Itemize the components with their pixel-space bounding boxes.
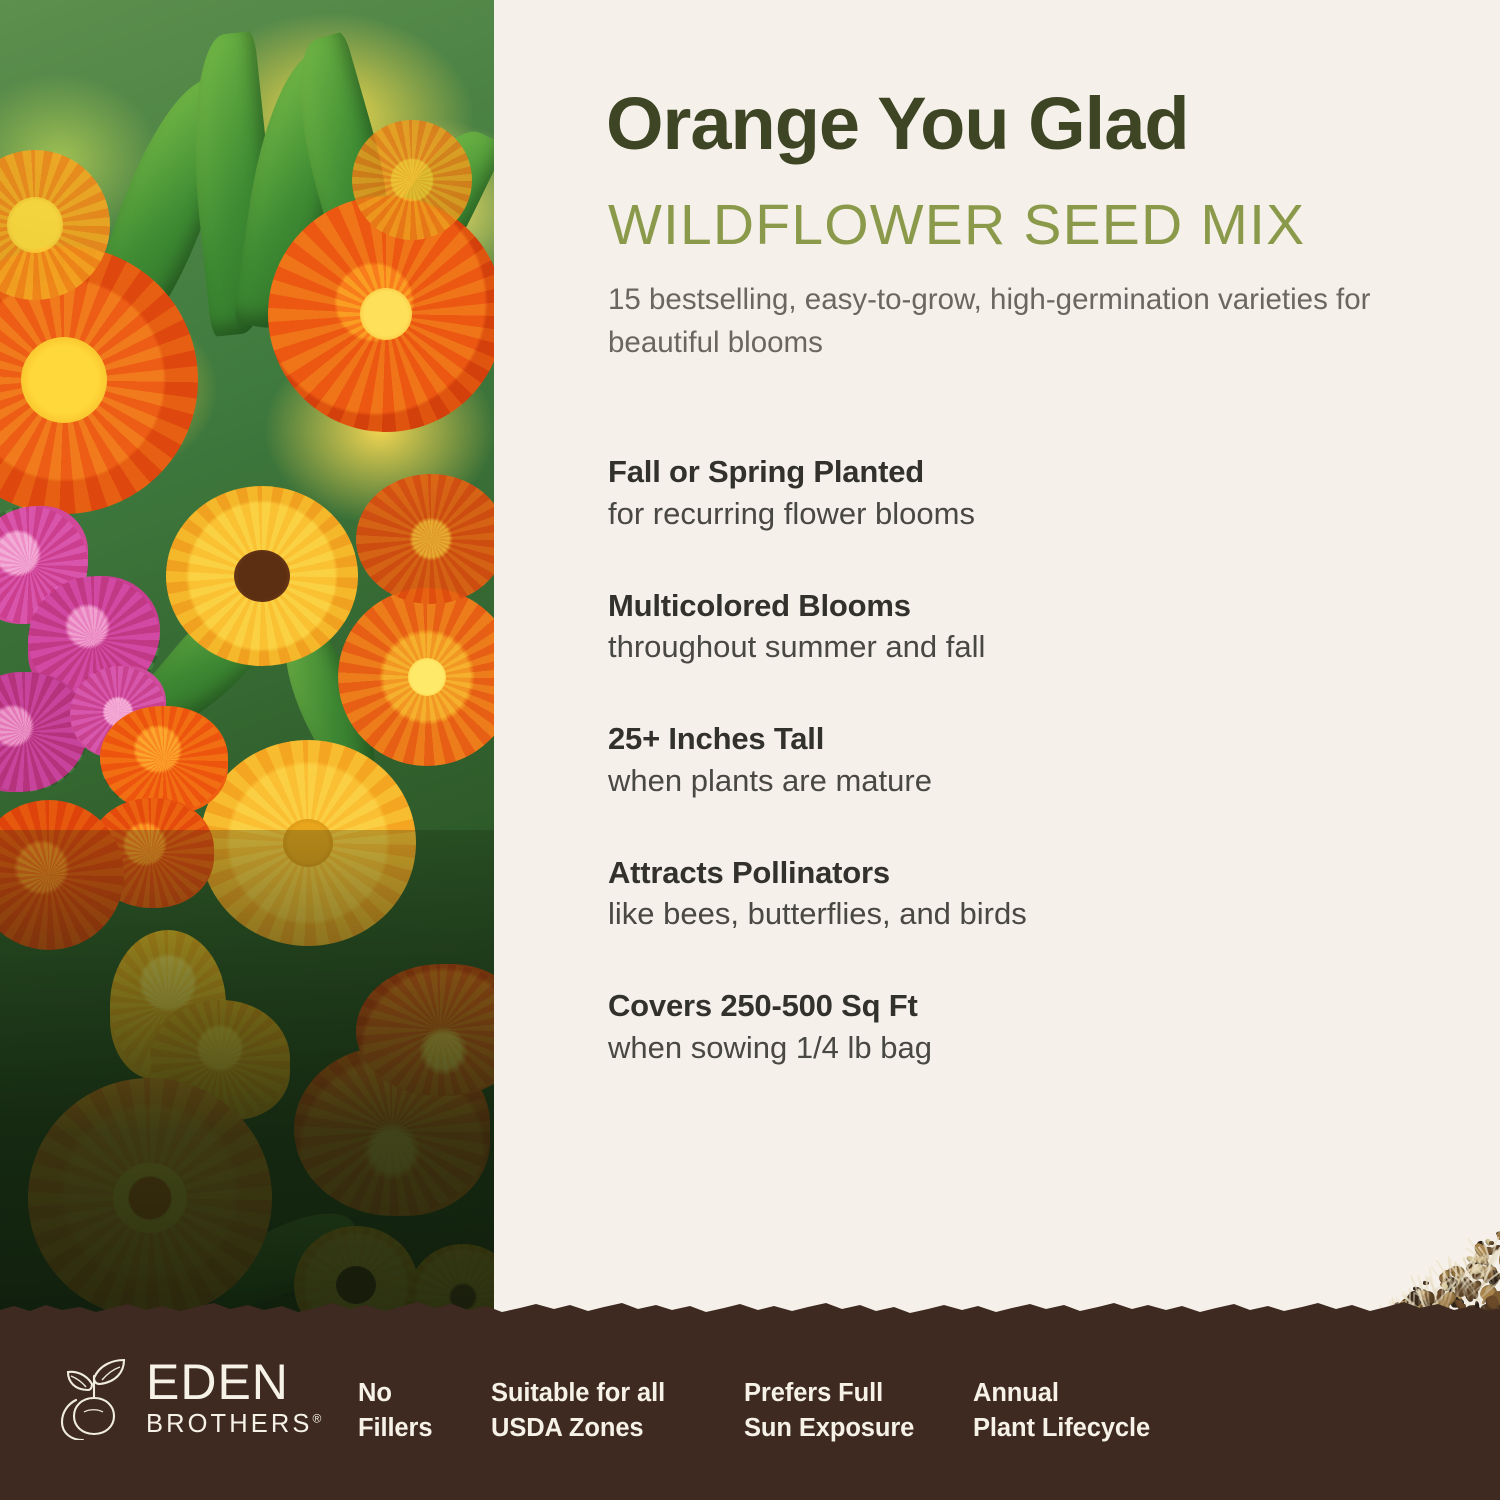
feature-heading: 25+ Inches Tall — [608, 719, 1408, 759]
badge-line-1: Annual — [973, 1376, 1150, 1411]
product-title: Orange You Glad — [606, 86, 1189, 163]
seedling-icon — [56, 1354, 132, 1440]
footer-badge-no-fillers: No Fillers — [358, 1376, 432, 1446]
feature-heading: Fall or Spring Planted — [608, 452, 1408, 492]
footer-bar: EDEN BROTHERS® No Fillers Suitable for a… — [0, 1318, 1500, 1500]
badge-line-2: USDA Zones — [491, 1411, 665, 1446]
flower-bloom — [166, 486, 358, 666]
content-panel: Orange You Glad WILDFLOWER SEED MIX 15 b… — [494, 0, 1500, 1500]
badge-line-1: Suitable for all — [491, 1376, 665, 1411]
badge-line-1: No — [358, 1376, 432, 1411]
logo-wordmark: EDEN BROTHERS® — [146, 1357, 321, 1438]
feature-detail: when sowing 1/4 lb bag — [608, 1028, 1408, 1069]
feature-detail: throughout summer and fall — [608, 627, 1408, 668]
feature-item: 25+ Inches Tall when plants are mature — [608, 719, 1408, 802]
feature-list: Fall or Spring Planted for recurring flo… — [608, 452, 1408, 1120]
flower-bloom — [356, 474, 494, 604]
feature-detail: like bees, butterflies, and birds — [608, 894, 1408, 935]
feature-item: Covers 250-500 Sq Ft when sowing 1/4 lb … — [608, 986, 1408, 1069]
product-description: 15 bestselling, easy-to-grow, high-germi… — [608, 278, 1398, 365]
feature-heading: Covers 250-500 Sq Ft — [608, 986, 1408, 1026]
feature-detail: when plants are mature — [608, 761, 1408, 802]
logo-name-bottom: BROTHERS® — [146, 1412, 321, 1438]
product-subtitle: WILDFLOWER SEED MIX — [608, 196, 1305, 256]
logo-name-top: EDEN — [146, 1357, 321, 1407]
registered-mark: ® — [312, 1411, 321, 1425]
badge-line-2: Sun Exposure — [744, 1411, 914, 1446]
badge-line-2: Fillers — [358, 1411, 432, 1446]
badge-line-2: Plant Lifecycle — [973, 1411, 1150, 1446]
feature-heading: Multicolored Blooms — [608, 586, 1408, 626]
badge-line-1: Prefers Full — [744, 1376, 914, 1411]
product-infographic: Orange You Glad WILDFLOWER SEED MIX 15 b… — [0, 0, 1500, 1500]
footer-badge-usda-zones: Suitable for all USDA Zones — [491, 1376, 665, 1446]
eden-brothers-logo: EDEN BROTHERS® — [56, 1354, 321, 1440]
feature-detail: for recurring flower blooms — [608, 494, 1408, 535]
flower-bloom — [352, 120, 472, 240]
footer-badge-lifecycle: Annual Plant Lifecycle — [973, 1376, 1150, 1446]
feature-heading: Attracts Pollinators — [608, 853, 1408, 893]
feature-item: Multicolored Blooms throughout summer an… — [608, 586, 1408, 669]
feature-item: Fall or Spring Planted for recurring flo… — [608, 452, 1408, 535]
flower-photo — [0, 0, 494, 1500]
feature-item: Attracts Pollinators like bees, butterfl… — [608, 853, 1408, 936]
footer-badge-sun-exposure: Prefers Full Sun Exposure — [744, 1376, 914, 1446]
